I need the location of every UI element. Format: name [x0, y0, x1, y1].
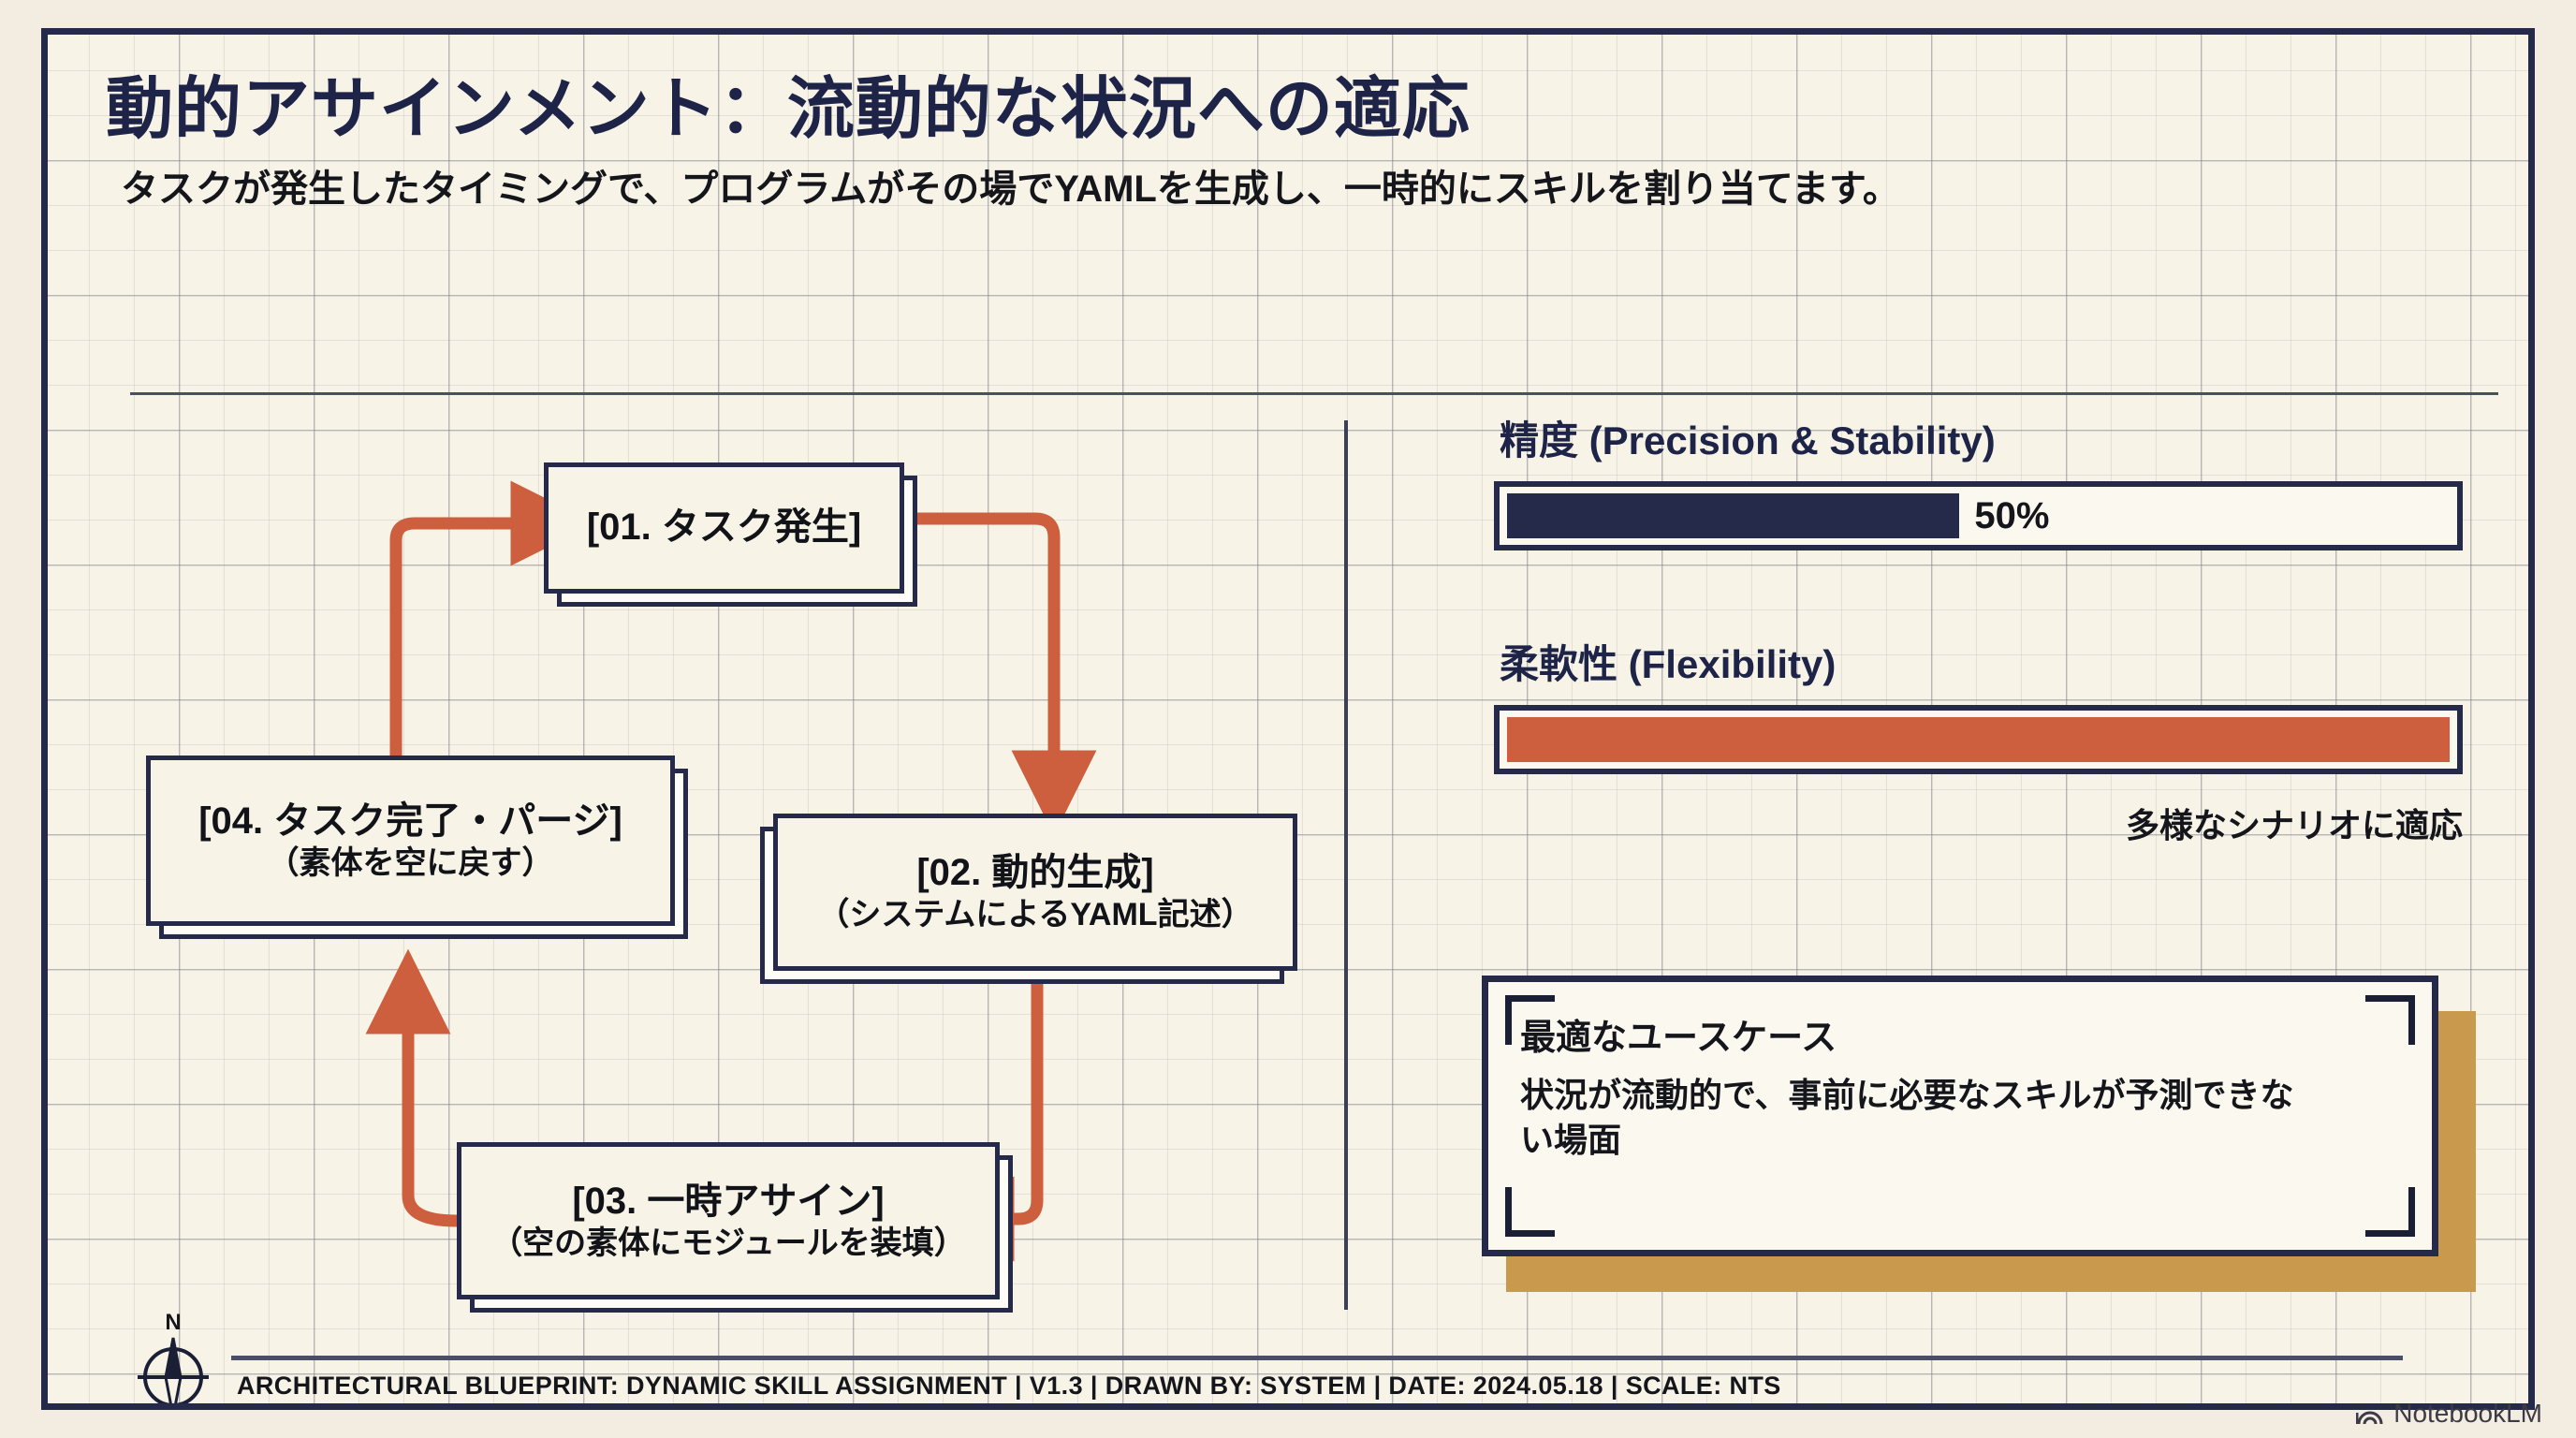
flow-node-01-box: [01. タスク発生]	[544, 462, 904, 594]
flow-node-04-label: [04. タスク完了・パージ]	[198, 800, 622, 844]
metric-precision: 精度 (Precision & Stability) 50%	[1494, 409, 2533, 550]
flow-node-04-box: [04. タスク完了・パージ] （素体を空に戻す）	[146, 756, 675, 926]
blueprint-frame: 動的アサインメント：流動的な状況への適応 タスクが発生したタイミングで、プログラ…	[41, 28, 2535, 1410]
metrics-gap	[1494, 550, 2533, 633]
flow-node-03[interactable]: [03. 一時アサイン] （空の素体にモジュールを装填）	[457, 1142, 1000, 1299]
flow-node-02[interactable]: [02. 動的生成] （システムによるYAML記述）	[773, 814, 1297, 971]
header: 動的アサインメント：流動的な状況への適応 タスクが発生したタイミングで、プログラ…	[106, 72, 2446, 213]
page-title: 動的アサインメント：流動的な状況への適応	[106, 72, 2446, 148]
metric-flexibility-caption: 多様なシナリオに適応	[1494, 799, 2463, 847]
usecase-card-body: 最適なユースケース 状況が流動的で、事前に必要なスキルが予測できない場面	[1482, 976, 2438, 1256]
metric-precision-value: 50%	[1974, 495, 2049, 537]
footer-rule-top	[231, 1356, 2403, 1360]
flow-node-01[interactable]: [01. タスク発生]	[544, 462, 904, 594]
flow-node-03-sublabel: （空の素体にモジュールを装填）	[490, 1225, 966, 1262]
metrics-panel: 精度 (Precision & Stability) 50% 柔軟性 (Flex…	[1494, 409, 2533, 847]
metric-flexibility: 柔軟性 (Flexibility) 多様なシナリオに適応	[1494, 633, 2533, 847]
flow-diagram: [01. タスク発生] [02. 動的生成] （システムによるYAML記述） […	[48, 409, 1330, 1327]
flow-node-02-sublabel: （システムによるYAML記述）	[817, 896, 1252, 933]
flow-node-04[interactable]: [04. タスク完了・パージ] （素体を空に戻す）	[146, 756, 675, 926]
metric-flexibility-track	[1494, 705, 2463, 774]
flow-node-02-label: [02. 動的生成]	[916, 851, 1153, 895]
usecase-content: 最適なユースケース 状況が流動的で、事前に必要なスキルが予測できない場面	[1520, 1008, 2404, 1227]
usecase-heading: 最適なユースケース	[1520, 1008, 2404, 1060]
metric-flexibility-fill	[1507, 717, 2450, 762]
compass-north-label: N	[134, 1310, 212, 1336]
flow-node-02-box: [02. 動的生成] （システムによるYAML記述）	[773, 814, 1297, 971]
footer-caption: ARCHITECTURAL BLUEPRINT: DYNAMIC SKILL A…	[237, 1372, 1781, 1401]
header-divider	[130, 392, 2498, 395]
notebooklm-brand-label: NotebookLM	[2393, 1399, 2542, 1429]
metric-flexibility-label: 柔軟性 (Flexibility)	[1500, 633, 2533, 690]
edge-03-to-04	[408, 971, 457, 1221]
flow-node-03-label: [03. 一時アサイン]	[572, 1180, 884, 1224]
flow-node-03-box: [03. 一時アサイン] （空の素体にモジュールを装填）	[457, 1142, 1000, 1299]
metric-precision-label: 精度 (Precision & Stability)	[1500, 409, 2533, 466]
page-subtitle: タスクが発生したタイミングで、プログラムがその場でYAMLを生成し、一時的にスキ…	[121, 165, 2446, 213]
compass-rose-icon: N	[134, 1310, 212, 1410]
flow-node-01-label: [01. タスク発生]	[587, 506, 861, 550]
notebooklm-brand: NotebookLM	[2356, 1399, 2542, 1429]
vertical-divider	[1344, 420, 1348, 1310]
metric-precision-fill	[1507, 493, 1959, 538]
edge-01-to-02	[901, 519, 1054, 814]
usecase-card[interactable]: 最適なユースケース 状況が流動的で、事前に必要なスキルが予測できない場面	[1482, 976, 2474, 1270]
usecase-text: 状況が流動的で、事前に必要なスキルが予測できない場面	[1520, 1073, 2316, 1163]
metric-precision-track: 50%	[1494, 481, 2463, 550]
notebooklm-logo-icon	[2356, 1401, 2384, 1426]
flow-node-04-sublabel: （素体を空に戻す）	[268, 844, 554, 882]
slide-root: 動的アサインメント：流動的な状況への適応 タスクが発生したタイミングで、プログラ…	[0, 0, 2576, 1438]
